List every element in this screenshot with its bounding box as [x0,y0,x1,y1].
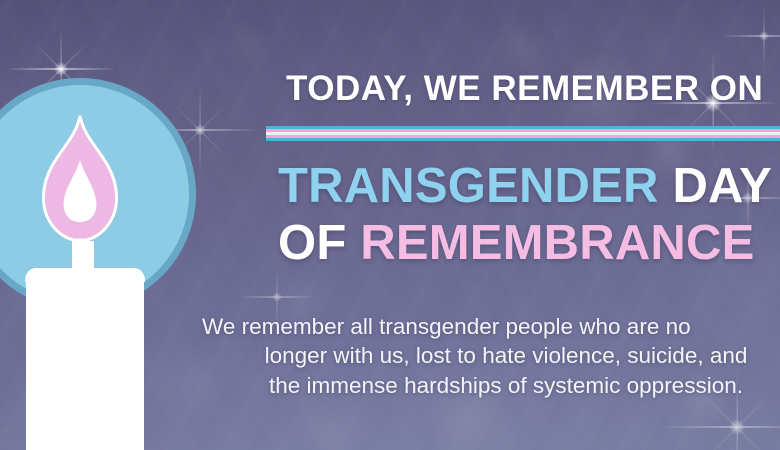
title-of: OF [278,216,346,270]
title-line-2: OF REMEMBRANCE [278,219,780,268]
title-line-1: TRANSGENDER DAY [278,162,780,211]
body-line-3: the immense hardships of systemic oppres… [196,371,780,400]
title-day: DAY [672,159,772,213]
text-content: TODAY, WE REMEMBER ON TRANSGENDER DAY OF… [0,0,780,450]
stripe-cyan-bottom [266,138,780,141]
body-paragraph: We remember all transgender people who a… [196,312,780,400]
body-line-1: We remember all transgender people who a… [202,312,780,341]
transgender-flag-divider [266,126,780,141]
body-line-2: longer with us, lost to hate violence, s… [196,341,780,370]
title-remembrance: REMEMBRANCE [360,216,754,270]
tdor-banner: TODAY, WE REMEMBER ON TRANSGENDER DAY OF… [0,0,780,450]
headline-text: TODAY, WE REMEMBER ON [286,70,780,108]
title-transgender: TRANSGENDER [278,159,659,213]
